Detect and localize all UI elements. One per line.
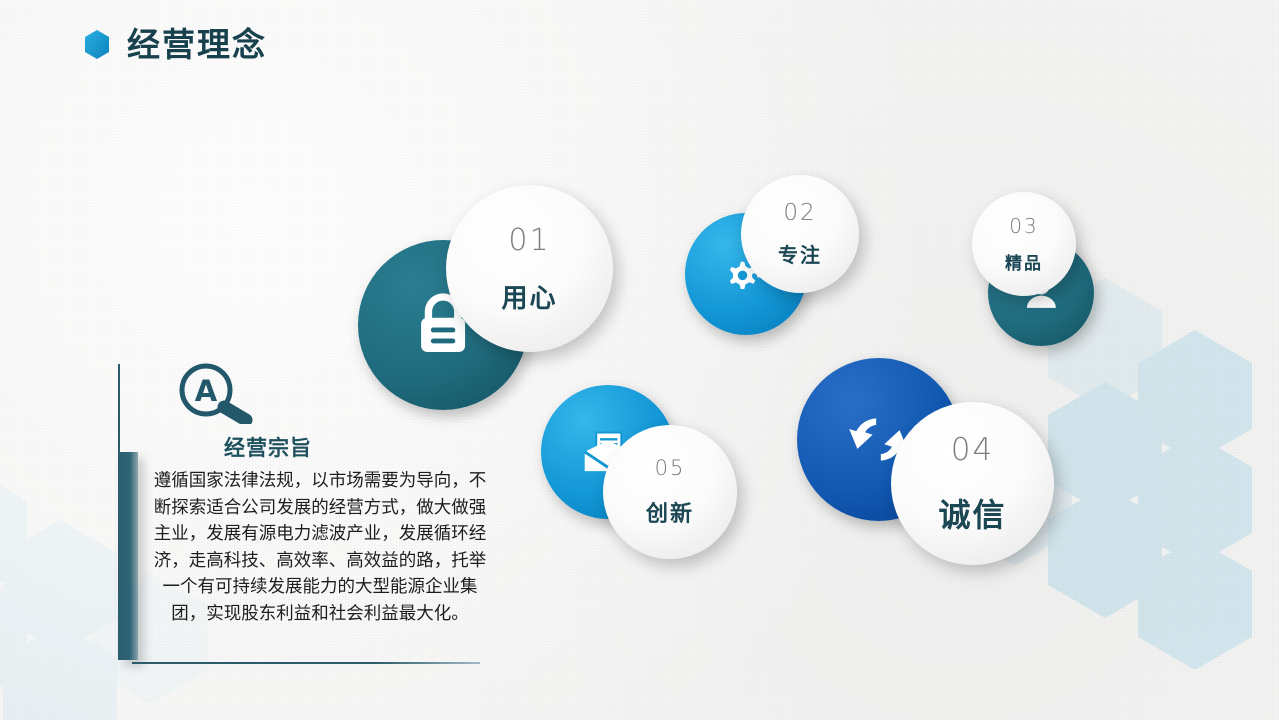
node-04-number: 04 <box>951 432 994 468</box>
node-05-number: 05 <box>655 456 686 480</box>
node-04-label-circle[interactable]: 04 诚信 <box>891 402 1054 565</box>
node-05-label: 创新 <box>646 496 694 528</box>
svg-text:A: A <box>195 374 218 408</box>
node-03-number: 03 <box>1009 214 1038 238</box>
node-01-number: 01 <box>508 223 550 258</box>
hexagon-icon <box>84 30 110 59</box>
slide-title-bar: 经营理念 <box>84 28 267 61</box>
node-05-label-circle[interactable]: 05 创新 <box>603 425 737 559</box>
node-03-label-circle[interactable]: 03 精品 <box>972 192 1076 296</box>
accent-thick-bar <box>118 452 138 660</box>
accent-thin-line <box>118 364 120 452</box>
node-02-label-circle[interactable]: 02 专注 <box>741 175 859 293</box>
accent-bottom-line <box>132 662 480 664</box>
mission-body-text: 遵循国家法律法规，以市场需要为导向，不断探索适合公司发展的经营方式，做大做强主业… <box>146 468 494 627</box>
magnifier-a-icon: A <box>174 362 260 424</box>
node-01-label-circle[interactable]: 01 用心 <box>446 185 613 352</box>
mission-heading: 经营宗旨 <box>173 432 363 462</box>
node-01-label: 用心 <box>501 278 557 315</box>
node-04-label: 诚信 <box>938 490 1006 536</box>
page-title: 经营理念 <box>127 28 267 61</box>
node-02-number: 02 <box>783 200 816 226</box>
node-03-label: 精品 <box>1005 249 1043 274</box>
node-02-label: 专注 <box>778 239 822 268</box>
